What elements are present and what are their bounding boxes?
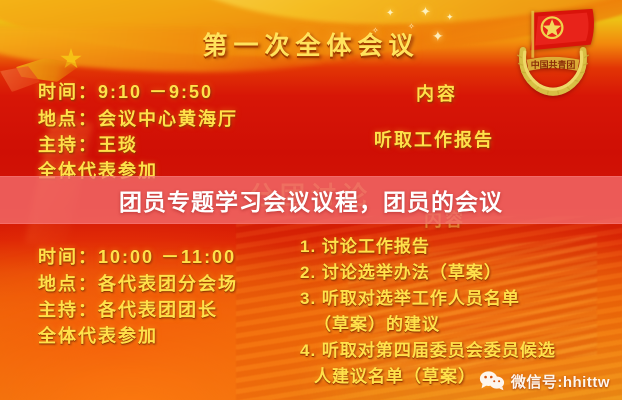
wechat-watermark: 微信号:hhittw (479, 370, 610, 392)
slide-title: 第一次全体会议 (0, 26, 622, 62)
agenda-item: 2. 讨论选举办法（草案） (300, 260, 618, 286)
session-one-content-item: 听取工作报告 (374, 126, 494, 152)
agenda-list: 1. 讨论工作报告 2. 讨论选举办法（草案） 3. 听取对选举工作人员名单 （… (300, 234, 618, 390)
session-two-host: 主持：各代表团团长 (38, 296, 218, 322)
session-two-time: 时间：10:00 －11:00 (38, 243, 236, 269)
headline-overlay-banner: 团员专题学习会议议程，团员的会议 (0, 176, 622, 224)
session-one-content-header: 内容 (416, 80, 458, 106)
headline-text: 团员专题学习会议议程，团员的会议 (119, 183, 503, 217)
session-two-place: 地点：各代表团分会场 (38, 270, 238, 296)
agenda-item: 4. 听取对第四届委员会委员候选 (300, 338, 618, 364)
session-one-time: 时间：9:10 －9:50 (38, 78, 213, 104)
slide-photo: ✦ ✧ ✦ ✧ ✦ ✧ ✦ 中国共青团 (0, 0, 622, 400)
agenda-item-continuation: （草案）的建议 (300, 312, 618, 338)
session-one-place: 地点：会议中心黄海厅 (38, 105, 238, 131)
wechat-id-label: 微信号:hhittw (511, 371, 610, 392)
agenda-item: 3. 听取对选举工作人员名单 (300, 286, 618, 312)
wechat-logo-icon (479, 370, 505, 392)
agenda-item: 1. 讨论工作报告 (300, 234, 618, 260)
session-two-attendance: 全体代表参加 (38, 322, 158, 348)
session-one-host: 主持：王琰 (38, 131, 138, 157)
